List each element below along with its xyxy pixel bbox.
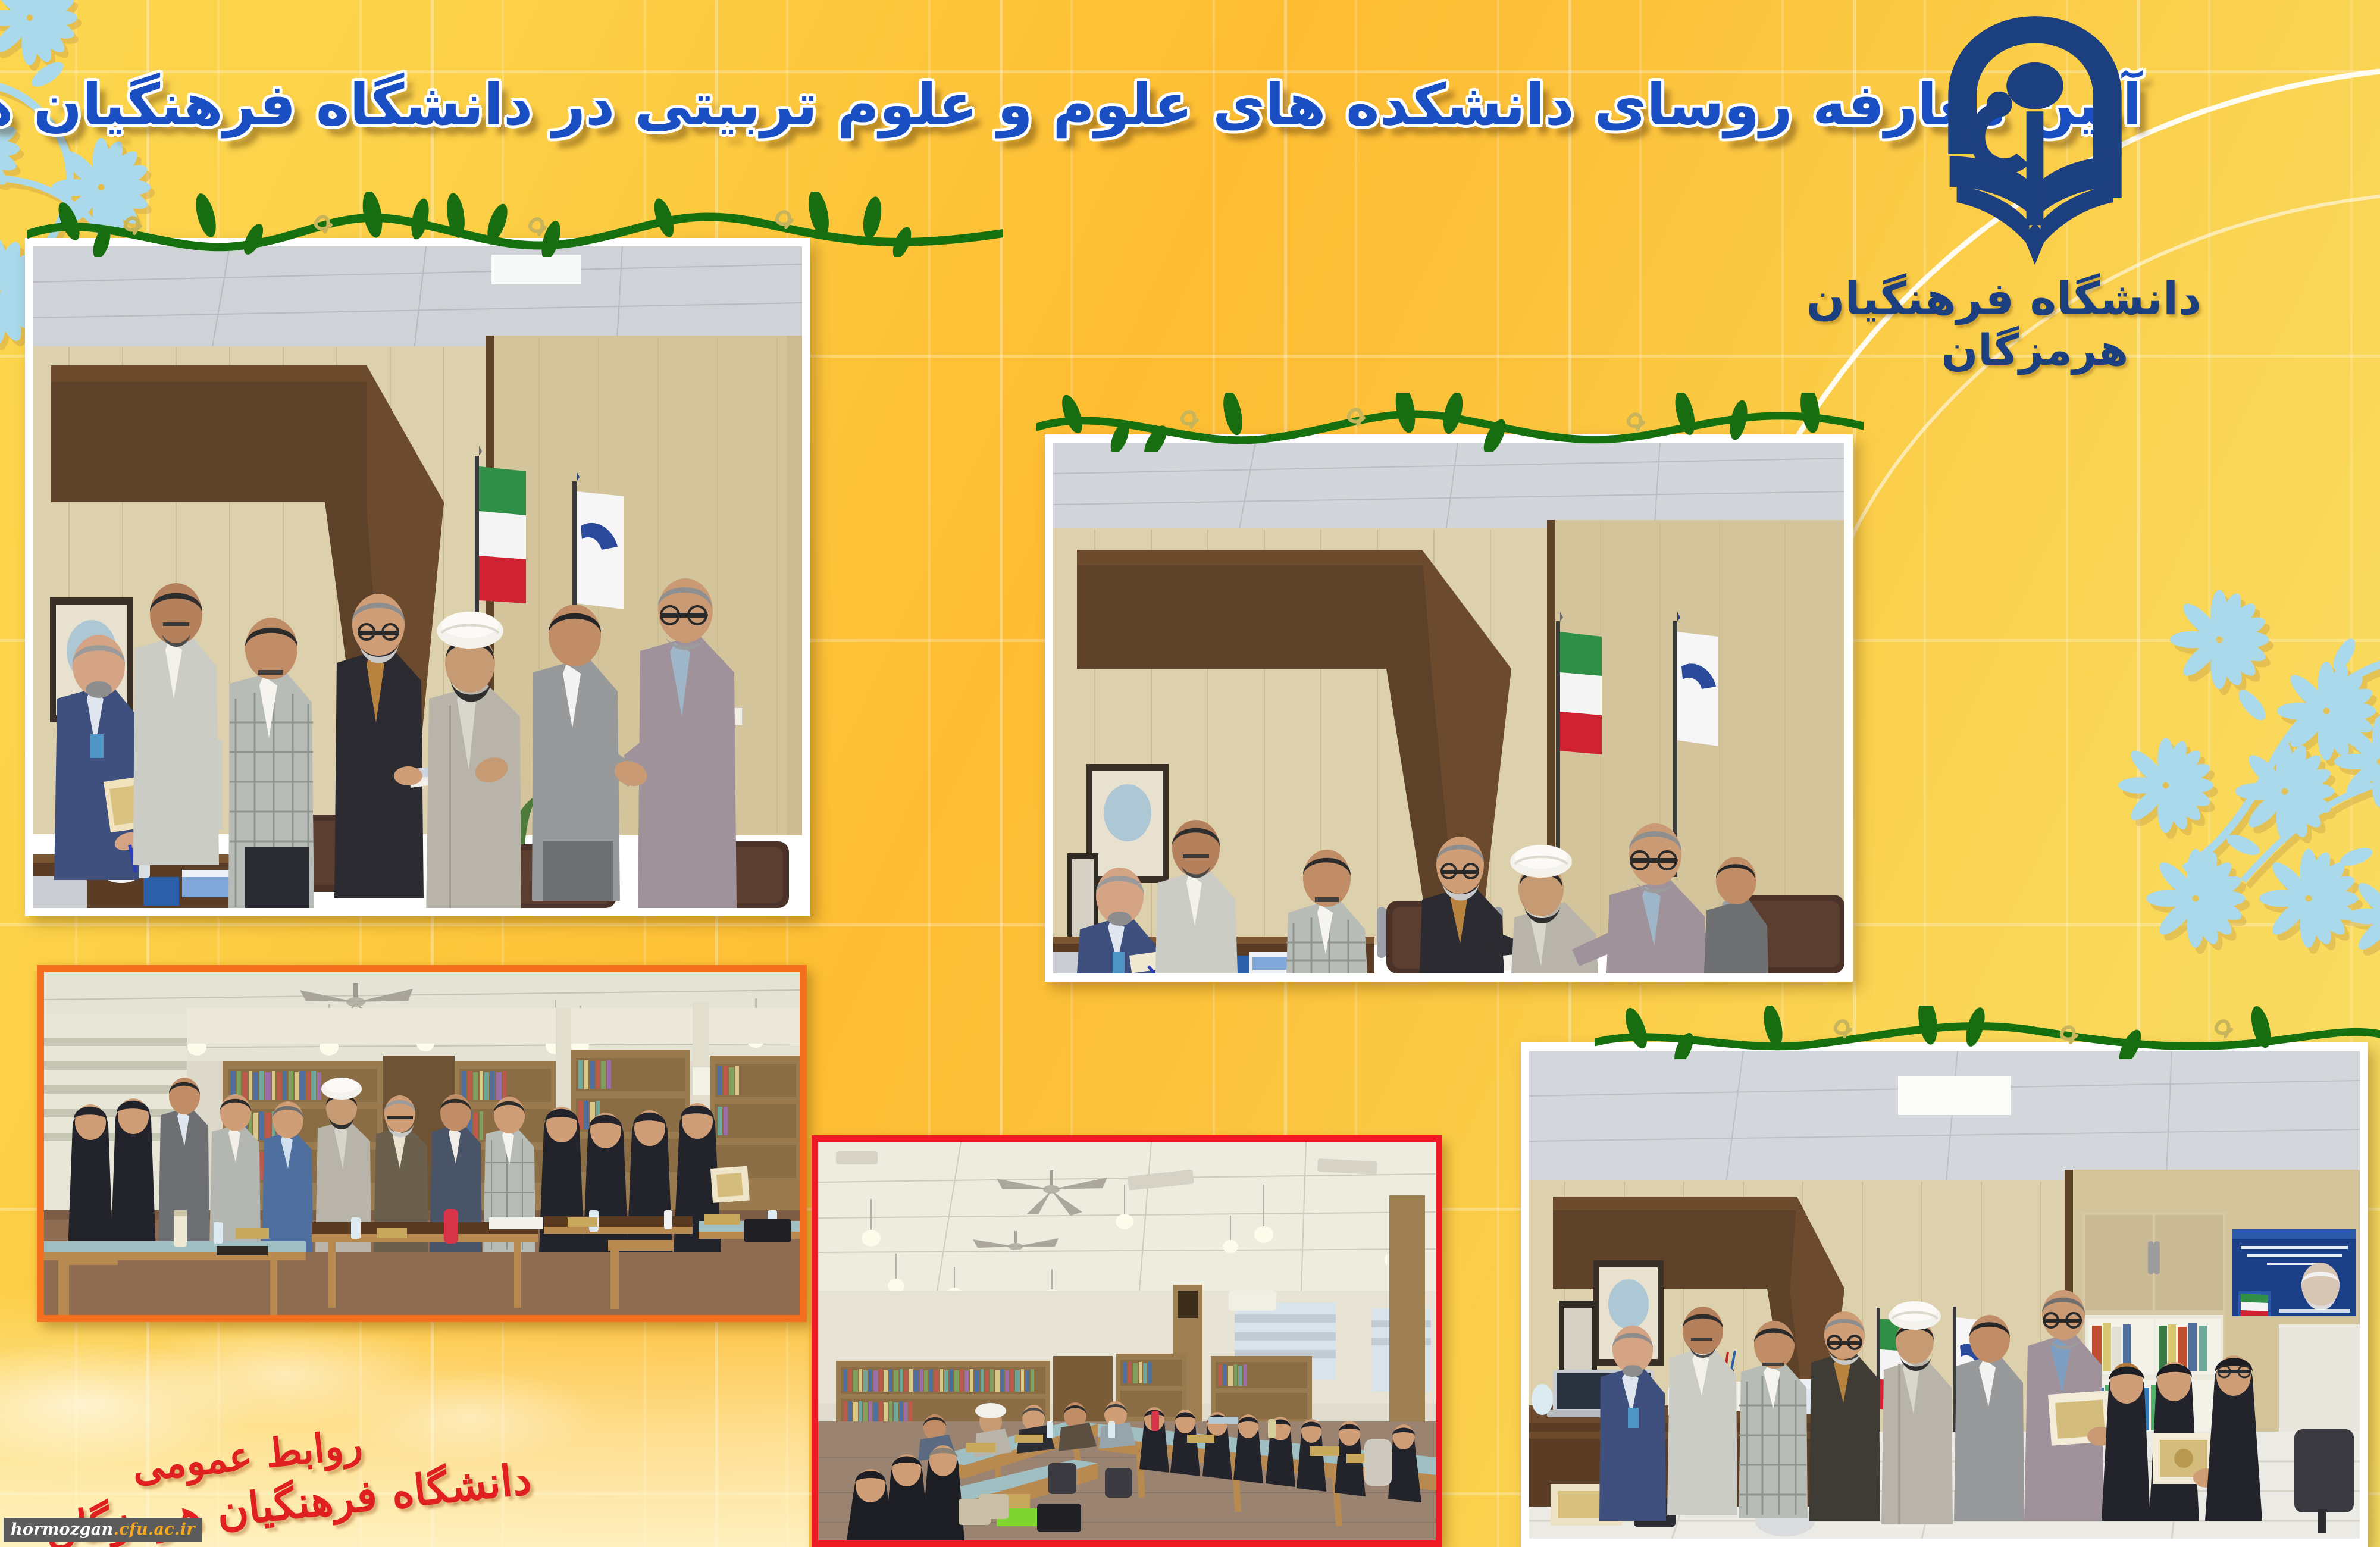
photo-5-inner <box>1529 1051 2360 1539</box>
university-logo-block: دانشگاه فرهنگیان هرمزگان <box>1868 12 2201 377</box>
logo-text-line-2: هرمزگان <box>1868 324 2201 377</box>
photo-4-scene <box>818 1142 1436 1540</box>
photo-3-scene <box>44 972 800 1315</box>
photo-1-scene <box>33 246 802 908</box>
logo-text-line-1: دانشگاه فرهنگیان <box>1868 271 2201 327</box>
website-watermark[interactable]: hormozgan.cfu.ac.ir <box>4 1518 202 1542</box>
photo-1-inner <box>33 246 802 908</box>
watermark-site-domain: .cfu.ac.ir <box>113 1520 195 1539</box>
farhangian-university-emblem-icon <box>1928 12 2142 268</box>
photo-group-library-standing[interactable] <box>37 965 807 1322</box>
watermark-site-name: hormozgan <box>11 1520 113 1539</box>
photo-library-meeting-seated[interactable] <box>812 1135 1442 1547</box>
photo-group-office-certificates[interactable] <box>1521 1042 2368 1547</box>
photo-3-inner <box>44 972 800 1315</box>
flower-cluster-right-icon <box>2047 583 2380 1000</box>
photo-certificate-handover-office[interactable] <box>1045 434 1853 982</box>
photo-2-scene <box>1053 443 1844 973</box>
photo-5-scene <box>1529 1051 2360 1539</box>
photo-4-inner <box>818 1142 1436 1540</box>
photo-2-inner <box>1053 443 1844 973</box>
poster-canvas: آیین معارفه روسای دانشکده های علوم و علو… <box>0 0 2380 1547</box>
photo-handshake-office-wide[interactable] <box>25 238 810 916</box>
